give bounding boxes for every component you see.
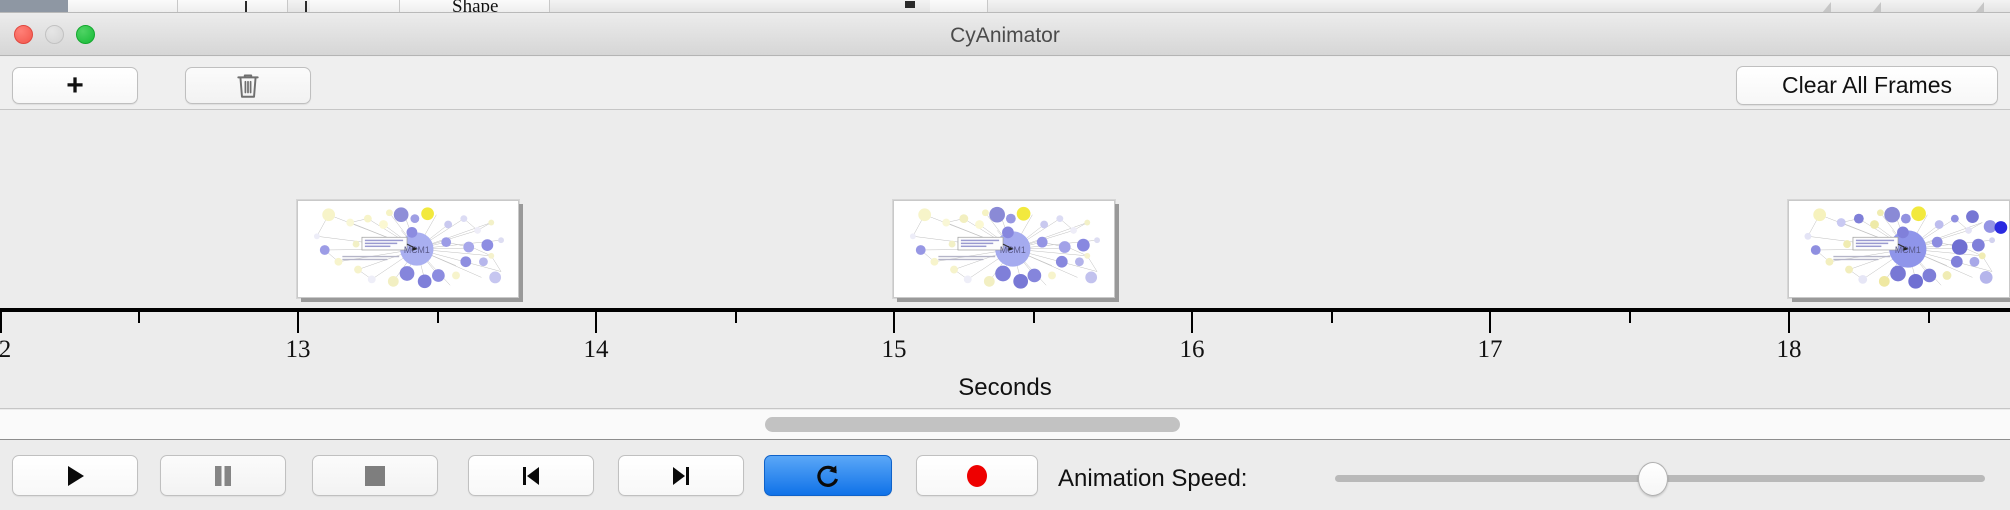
frame-thumbnail-2[interactable]: MCM1: [893, 200, 1115, 298]
skip-to-start-button[interactable]: [468, 455, 594, 496]
playback-control-bar: Animation Speed:: [0, 441, 2010, 510]
ruler-tick-minor: [1629, 312, 1631, 323]
add-frame-button[interactable]: +: [12, 67, 138, 104]
timeline-horizontal-scrollbar[interactable]: [0, 410, 2010, 440]
delete-frame-button[interactable]: [185, 67, 311, 104]
ruler-tick-major: [1191, 312, 1193, 333]
ruler-tick-minor: [735, 312, 737, 323]
ruler-tick-minor: [1033, 312, 1035, 323]
ruler-label: 18: [1777, 336, 1802, 364]
ruler-tick-minor: [437, 312, 439, 323]
play-icon: [62, 463, 88, 489]
animation-speed-label: Animation Speed:: [1058, 465, 1247, 493]
ruler-tick-minor: [138, 312, 140, 323]
background-mark: [305, 1, 307, 13]
background-mark: [245, 1, 247, 13]
skip-forward-icon: [669, 464, 693, 488]
background-tab: [68, 0, 178, 13]
ruler-tick-minor: [1331, 312, 1333, 323]
background-mark: [905, 1, 915, 8]
ruler-label: 14: [584, 336, 609, 364]
loop-icon: [814, 462, 842, 490]
background-triangle: [1822, 2, 1831, 13]
ruler-tick-major: [1489, 312, 1491, 333]
ruler-label: 2: [0, 336, 11, 364]
stop-button[interactable]: [312, 455, 438, 496]
record-button[interactable]: [916, 455, 1038, 496]
play-button[interactable]: [12, 455, 138, 496]
ruler-tick-minor: [1928, 312, 1930, 323]
title-bar[interactable]: CyAnimator: [0, 13, 2010, 56]
slider-thumb[interactable]: [1638, 462, 1668, 496]
loop-button[interactable]: [764, 455, 892, 496]
animation-speed-slider[interactable]: [1335, 475, 1985, 477]
cyanimator-window: Shape CyAnimator + Clear All Fram: [0, 0, 2010, 510]
toolbar: + Clear All Frames: [0, 57, 2010, 110]
pause-button[interactable]: [160, 455, 286, 496]
background-tab: [178, 0, 288, 13]
ruler-tick-major: [893, 312, 895, 333]
plus-icon: +: [66, 71, 84, 101]
svg-text:MCM1: MCM1: [1000, 245, 1026, 255]
ruler-label: 15: [882, 336, 907, 364]
timeline-ruler[interactable]: 2 13 14 15 16 17 18 Seconds: [0, 308, 2010, 409]
background-window-strip: Shape: [0, 0, 2010, 13]
background-tab: [310, 0, 400, 13]
skip-to-end-button[interactable]: [618, 455, 744, 496]
frame-thumbnail-3[interactable]: MCM1: [1788, 200, 2010, 298]
network-thumbnail-image: MCM1: [298, 201, 518, 297]
window-title: CyAnimator: [0, 24, 2010, 48]
ruler-label: 13: [286, 336, 311, 364]
record-icon: [964, 463, 990, 489]
background-triangle: [1872, 2, 1881, 13]
ruler-tick-major: [0, 312, 2, 333]
network-thumbnail-image: MCM1: [894, 201, 1114, 297]
clear-all-frames-button[interactable]: Clear All Frames: [1736, 66, 1998, 105]
svg-text:MCM1: MCM1: [1895, 245, 1921, 255]
ruler-tick-major: [297, 312, 299, 333]
background-tab: [930, 0, 988, 13]
frame-thumbnail-1[interactable]: MCM1: [297, 200, 519, 298]
ruler-label: 17: [1478, 336, 1503, 364]
svg-text:MCM1: MCM1: [404, 245, 430, 255]
ruler-tick-major: [1788, 312, 1790, 333]
network-thumbnail-image: MCM1: [1789, 201, 2009, 297]
clear-all-frames-label: Clear All Frames: [1782, 72, 1952, 99]
timeline-panel[interactable]: MCM1: [0, 111, 2010, 409]
background-window-toolbar-chip: [0, 0, 68, 13]
skip-back-icon: [519, 464, 543, 488]
stop-icon: [364, 465, 386, 487]
background-triangle: [1975, 2, 1984, 13]
ruler-axis-title: Seconds: [0, 374, 2010, 402]
ruler-baseline: [0, 308, 2010, 312]
background-window-label: Shape: [452, 0, 498, 13]
scrollbar-thumb[interactable]: [765, 417, 1180, 432]
trash-icon: [235, 72, 261, 100]
ruler-label: 16: [1180, 336, 1205, 364]
ruler-tick-major: [595, 312, 597, 333]
pause-icon: [212, 464, 234, 488]
